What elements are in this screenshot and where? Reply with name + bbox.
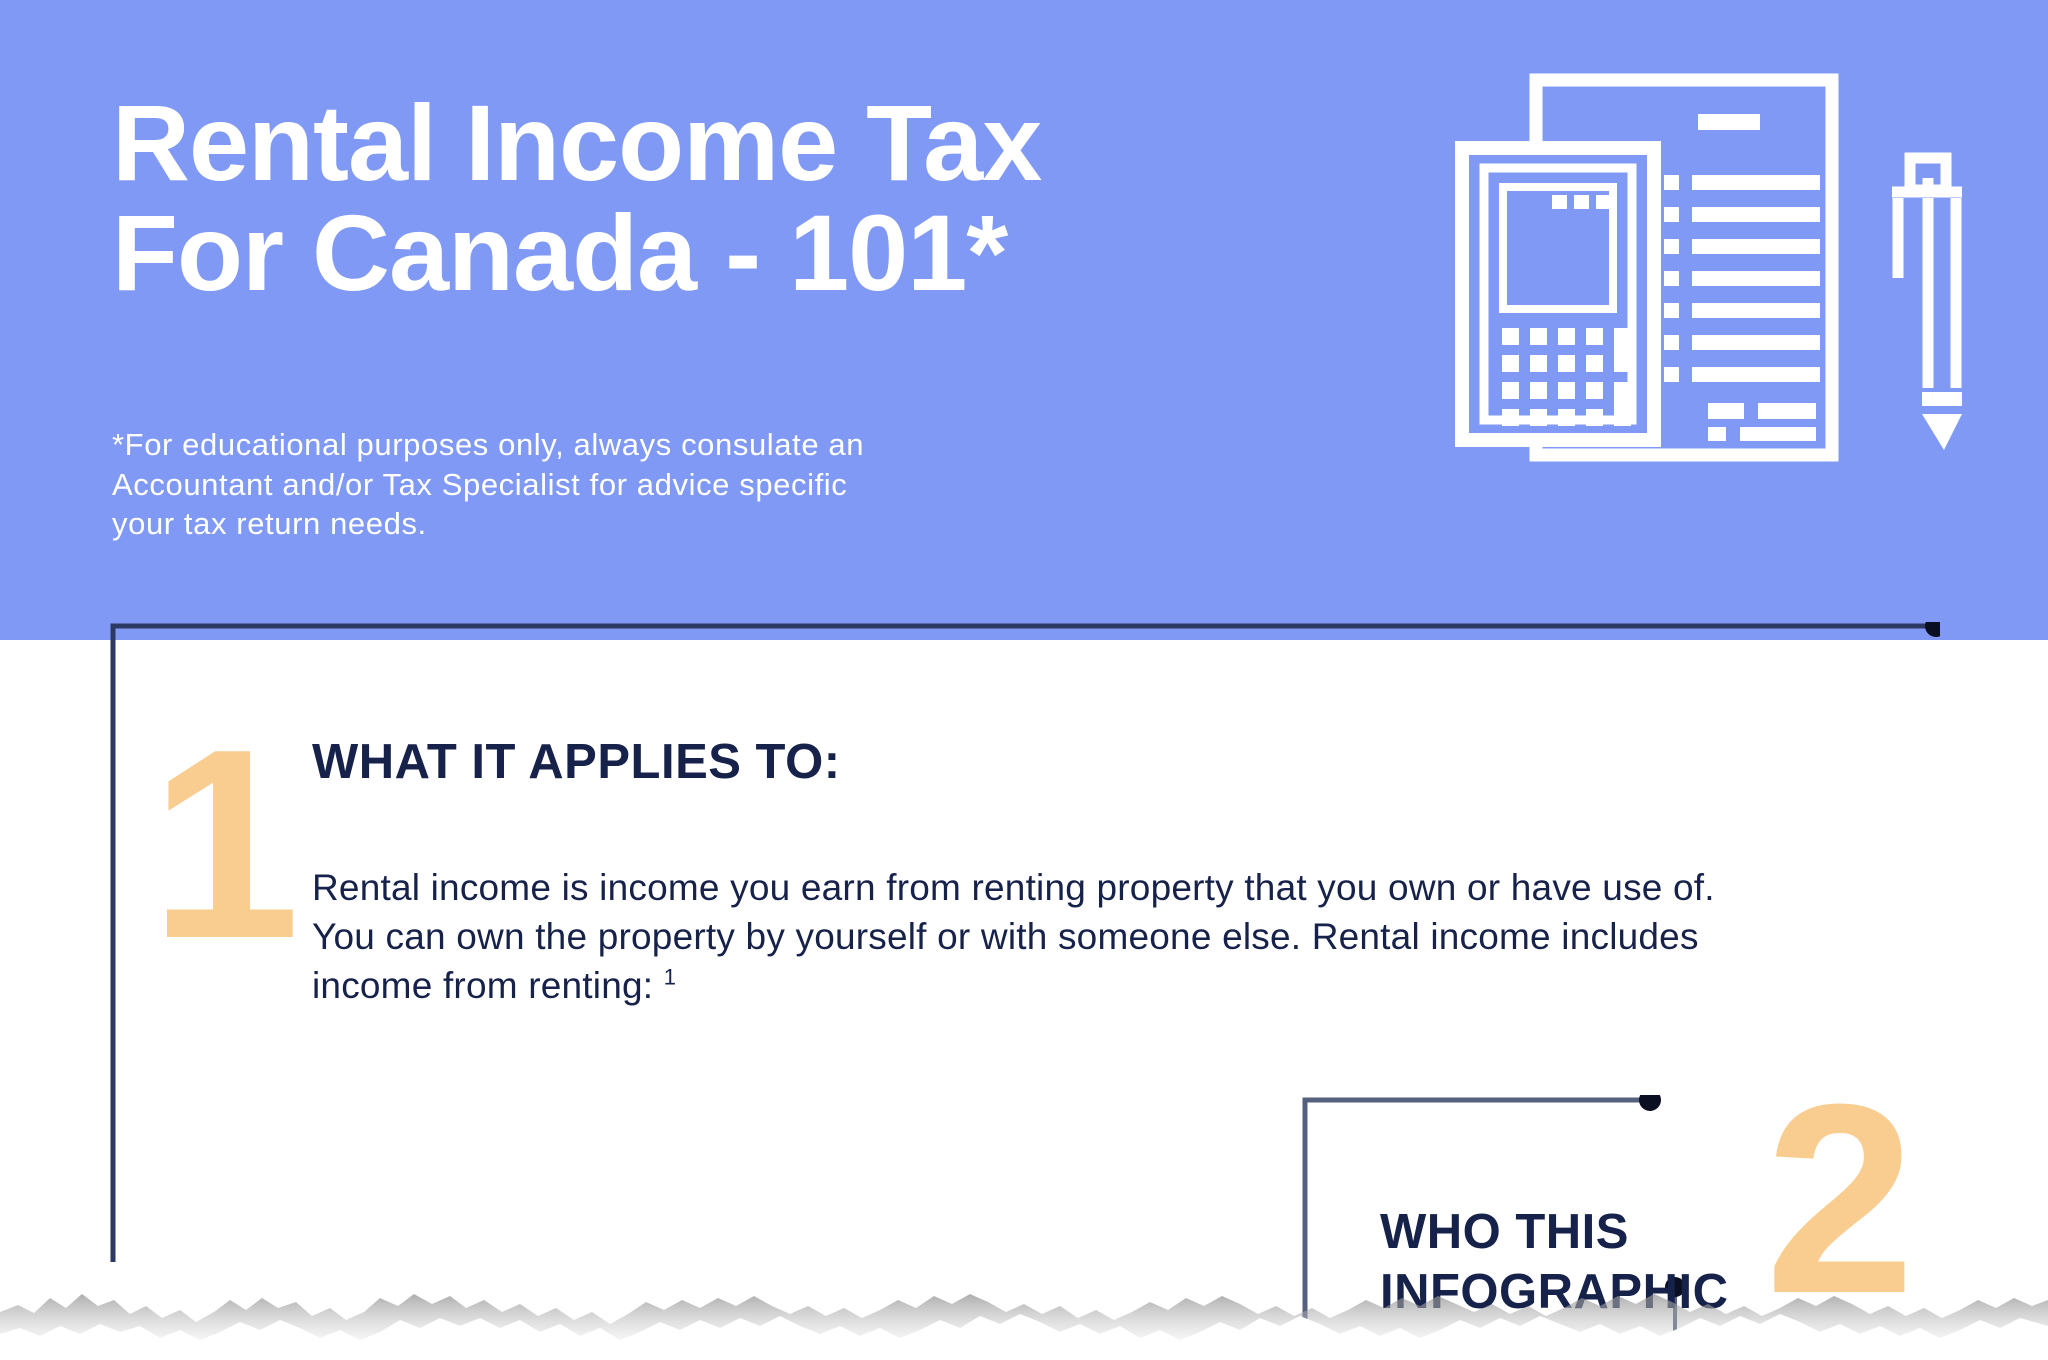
header-disclaimer: *For educational purposes only, always c… [112, 425, 1302, 544]
header-band: Rental Income Tax For Canada - 101* *For… [0, 0, 2048, 640]
section-1-body-text: Rental income is income you earn from re… [312, 867, 1715, 1006]
section-1-body: Rental income is income you earn from re… [312, 863, 1722, 1011]
title-block: Rental Income Tax For Canada - 101* [112, 88, 1412, 308]
section-1-number: 1 [150, 710, 300, 980]
page-title: Rental Income Tax For Canada - 101* [112, 88, 1412, 308]
tax-form-calculator-pencil-icon [1440, 70, 2000, 465]
property-icons-row [0, 1130, 2048, 1360]
section-1-heading: WHAT IT APPLIES TO: [312, 734, 841, 790]
infographic-page: Rental Income Tax For Canada - 101* *For… [0, 0, 2048, 1360]
section-1-footnote-marker: 1 [664, 965, 676, 990]
